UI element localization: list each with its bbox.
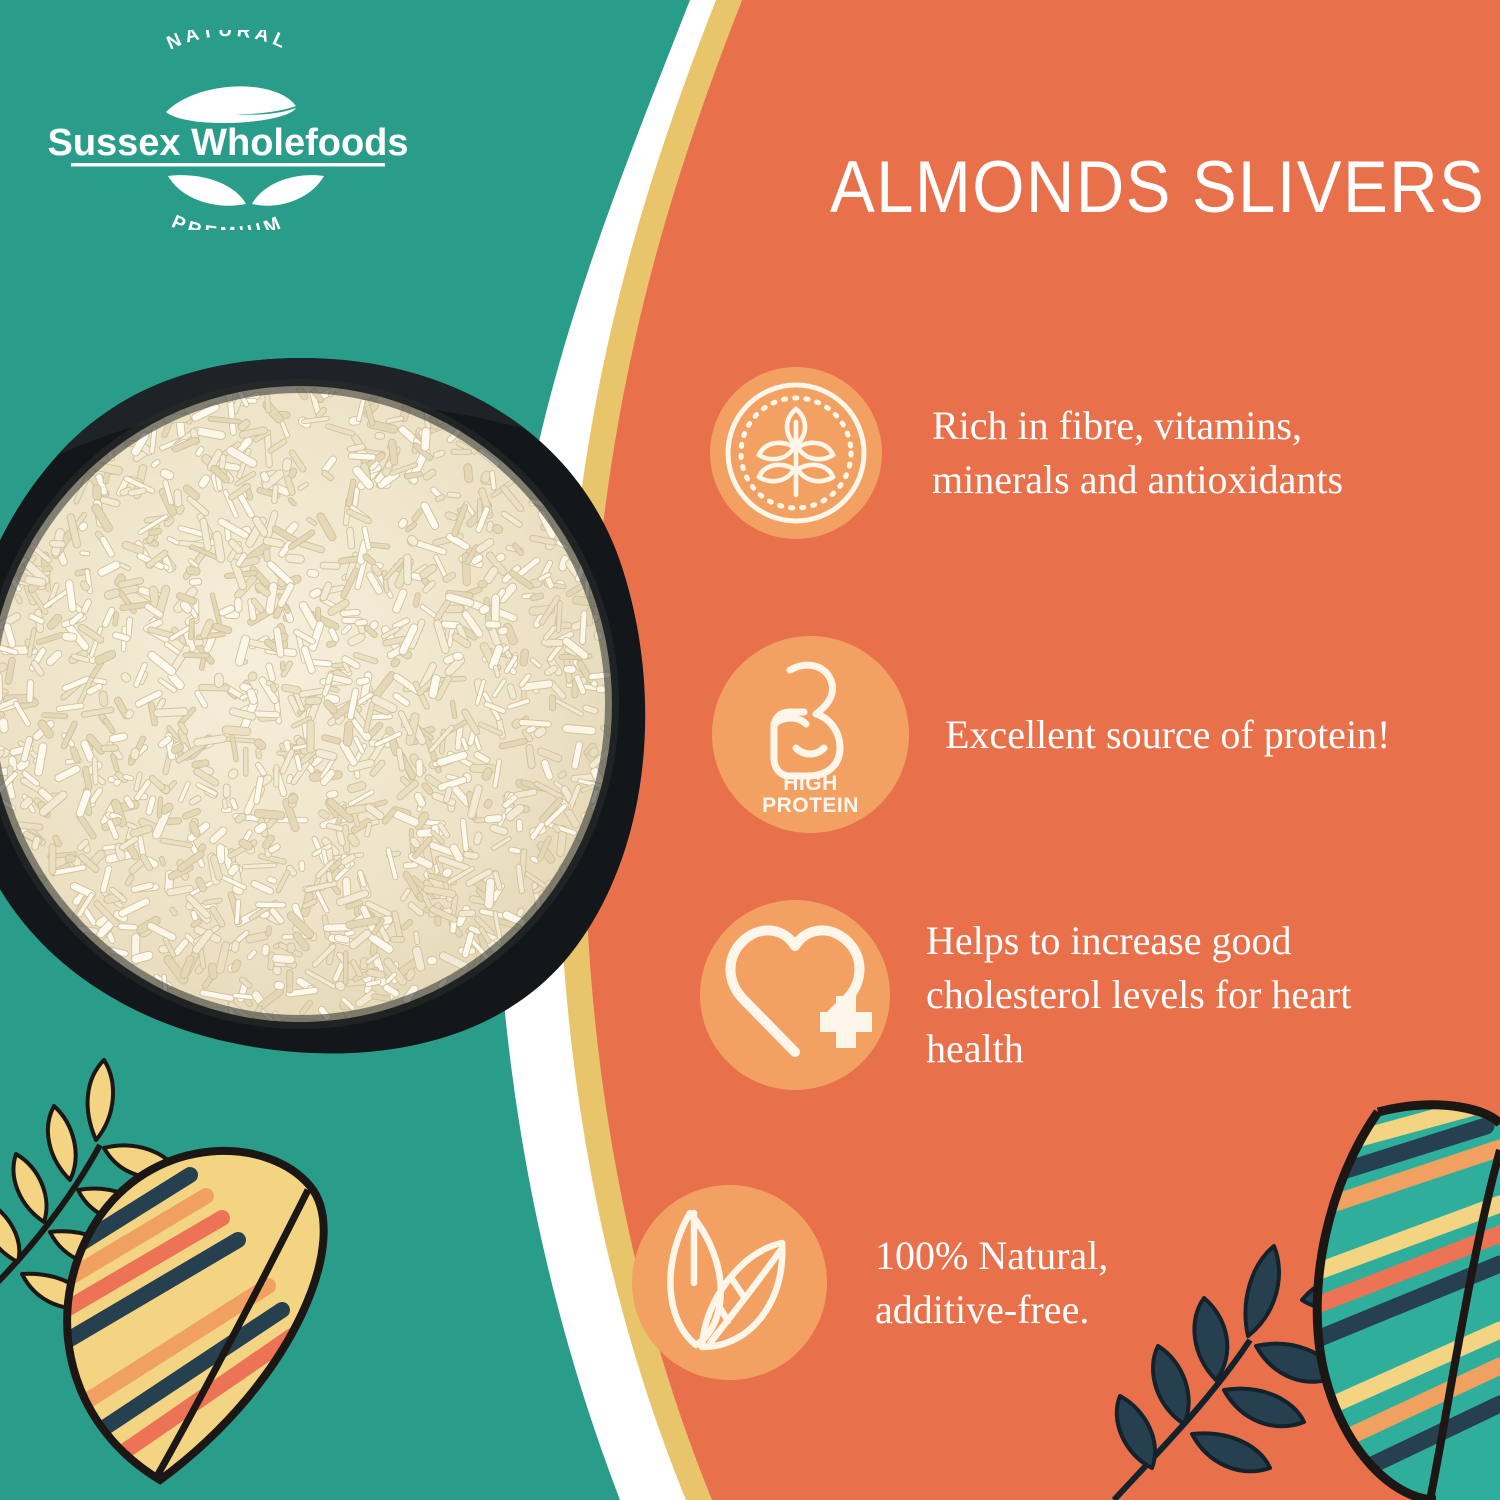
benefit-row-fibre: Rich in fibre, vitamins, minerals and an… [710, 367, 1490, 539]
benefit-text-protein: Excellent source of protein! [945, 708, 1390, 762]
benefit-line: Helps to increase good [926, 914, 1351, 968]
benefit-line: minerals and antioxidants [932, 453, 1343, 507]
benefit-line: health [926, 1022, 1351, 1076]
logo-arc-premium: PREMIUM [169, 212, 288, 230]
benefit-row-heart: Helps to increase good cholesterol level… [700, 900, 1490, 1090]
protein-badge-line2: PROTEIN [712, 795, 909, 817]
two-leaves-icon [632, 1185, 827, 1380]
logo-wordmark: Sussex Wholefoods [47, 122, 408, 164]
benefit-line: additive-free. [875, 1283, 1108, 1337]
benefit-row-natural: 100% Natural, additive-free. [632, 1185, 1432, 1380]
benefit-text-natural: 100% Natural, additive-free. [875, 1229, 1108, 1337]
logo-underline [71, 163, 385, 167]
page-title: ALMONDS SLIVERS [830, 150, 1428, 227]
benefit-line: cholesterol levels for heart [926, 968, 1351, 1022]
flexed-bicep-icon: HIGH PROTEIN [712, 636, 909, 833]
benefit-line: 100% Natural, [875, 1229, 1108, 1283]
benefit-text-fibre: Rich in fibre, vitamins, minerals and an… [932, 399, 1343, 507]
benefit-line: Rich in fibre, vitamins, [932, 399, 1343, 453]
logo-arc-natural: NATURAL [164, 30, 293, 54]
infographic-canvas: NATURAL PREMIUM Sussex Wholefoods ALMOND… [0, 0, 1500, 1500]
protein-badge-label: HIGH PROTEIN [712, 773, 909, 817]
benefit-text-heart: Helps to increase good cholesterol level… [926, 914, 1351, 1076]
brand-logo: NATURAL PREMIUM Sussex Wholefoods [38, 30, 418, 230]
heart-plus-icon [700, 900, 890, 1090]
benefit-line: Excellent source of protein! [945, 708, 1390, 762]
wheat-sprig-icon [710, 367, 882, 539]
benefit-row-protein: HIGH PROTEIN Excellent source of protein… [712, 636, 1492, 833]
two-leaves-icon [168, 175, 324, 206]
leaf-icon [166, 86, 296, 123]
protein-badge-line1: HIGH [712, 773, 909, 795]
